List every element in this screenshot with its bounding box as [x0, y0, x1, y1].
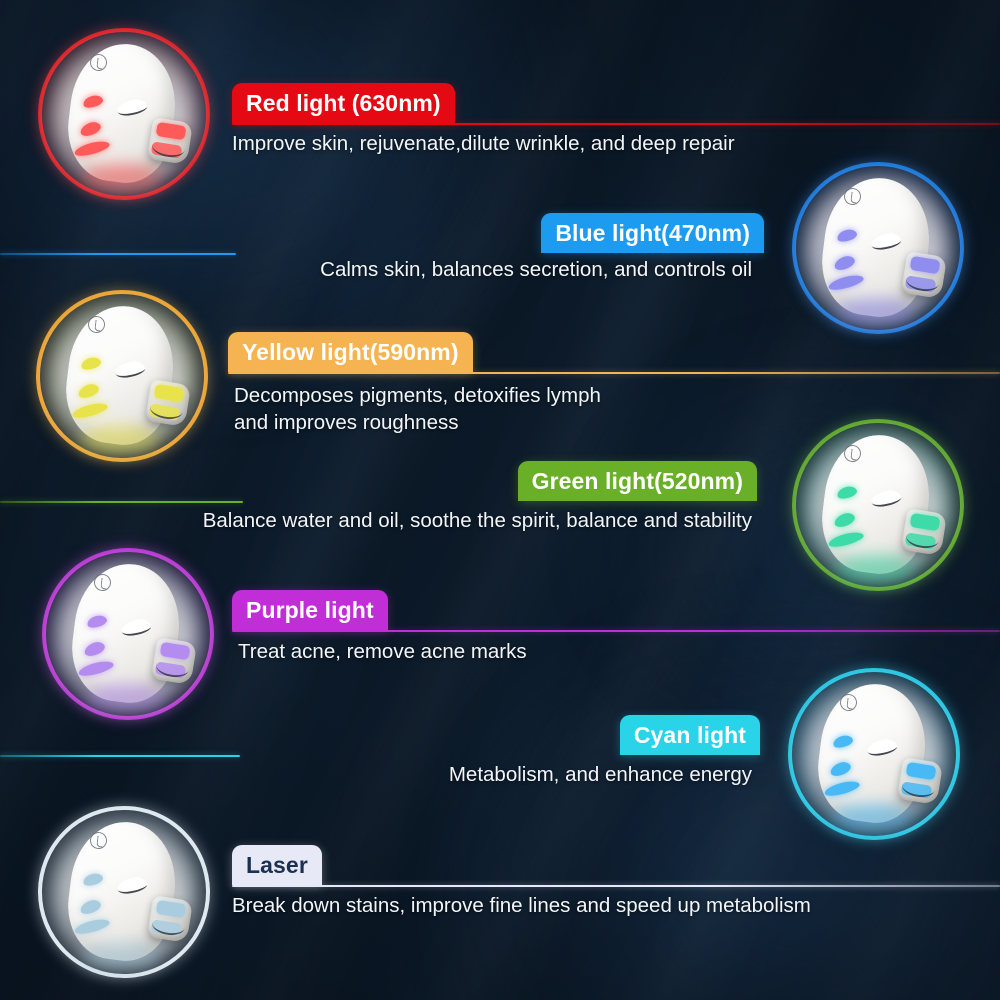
mask-chin-glow [86, 684, 164, 710]
row-divider-yellow [228, 372, 1000, 374]
light-label-purple[interactable]: Purple light [232, 590, 388, 630]
led-face-mask-icon [792, 162, 964, 334]
mask-neck-strap [151, 637, 197, 685]
light-label-laser[interactable]: Laser [232, 845, 322, 885]
mask-neck-strap [901, 251, 947, 299]
row-divider-green [0, 501, 243, 503]
mask-neck-strap [897, 757, 943, 805]
light-description-cyan: Metabolism, and enhance energy [449, 761, 752, 788]
mask-chin-glow [832, 804, 910, 830]
row-divider-red [232, 123, 1000, 125]
led-face-mask-icon [38, 806, 210, 978]
row-divider-purple [232, 630, 1000, 632]
light-label-green[interactable]: Green light(520nm) [518, 461, 757, 501]
mask-neck-strap [147, 117, 193, 165]
mask-neck-strap [145, 379, 191, 427]
row-divider-blue [0, 253, 236, 255]
light-description-green: Balance water and oil, soothe the spirit… [203, 507, 752, 534]
light-description-laser: Break down stains, improve fine lines an… [232, 892, 811, 919]
mask-chin-glow [82, 164, 160, 190]
light-description-blue: Calms skin, balances secretion, and cont… [320, 256, 752, 283]
mask-neck-strap [901, 508, 947, 556]
led-face-mask-icon [788, 668, 960, 840]
row-divider-cyan [0, 755, 240, 757]
led-face-mask-icon [36, 290, 208, 462]
light-label-red[interactable]: Red light (630nm) [232, 83, 455, 123]
infographic-poster: Red light (630nm)Improve skin, rejuvenat… [0, 0, 1000, 1000]
light-description-red: Improve skin, rejuvenate,dilute wrinkle,… [232, 130, 735, 157]
mask-chin-glow [80, 426, 158, 452]
light-label-blue[interactable]: Blue light(470nm) [541, 213, 764, 253]
light-label-cyan[interactable]: Cyan light [620, 715, 760, 755]
led-face-mask-icon [42, 548, 214, 720]
mask-chin-glow [836, 555, 914, 581]
light-description-purple: Treat acne, remove acne marks [238, 638, 527, 665]
row-divider-laser [232, 885, 1000, 887]
mask-chin-glow [82, 942, 160, 968]
mask-neck-strap [147, 895, 193, 943]
mask-chin-glow [836, 298, 914, 324]
light-description-yellow: Decomposes pigments, detoxifies lymph an… [234, 382, 601, 436]
led-face-mask-icon [38, 28, 210, 200]
led-face-mask-icon [792, 419, 964, 591]
light-label-yellow[interactable]: Yellow light(590nm) [228, 332, 473, 372]
